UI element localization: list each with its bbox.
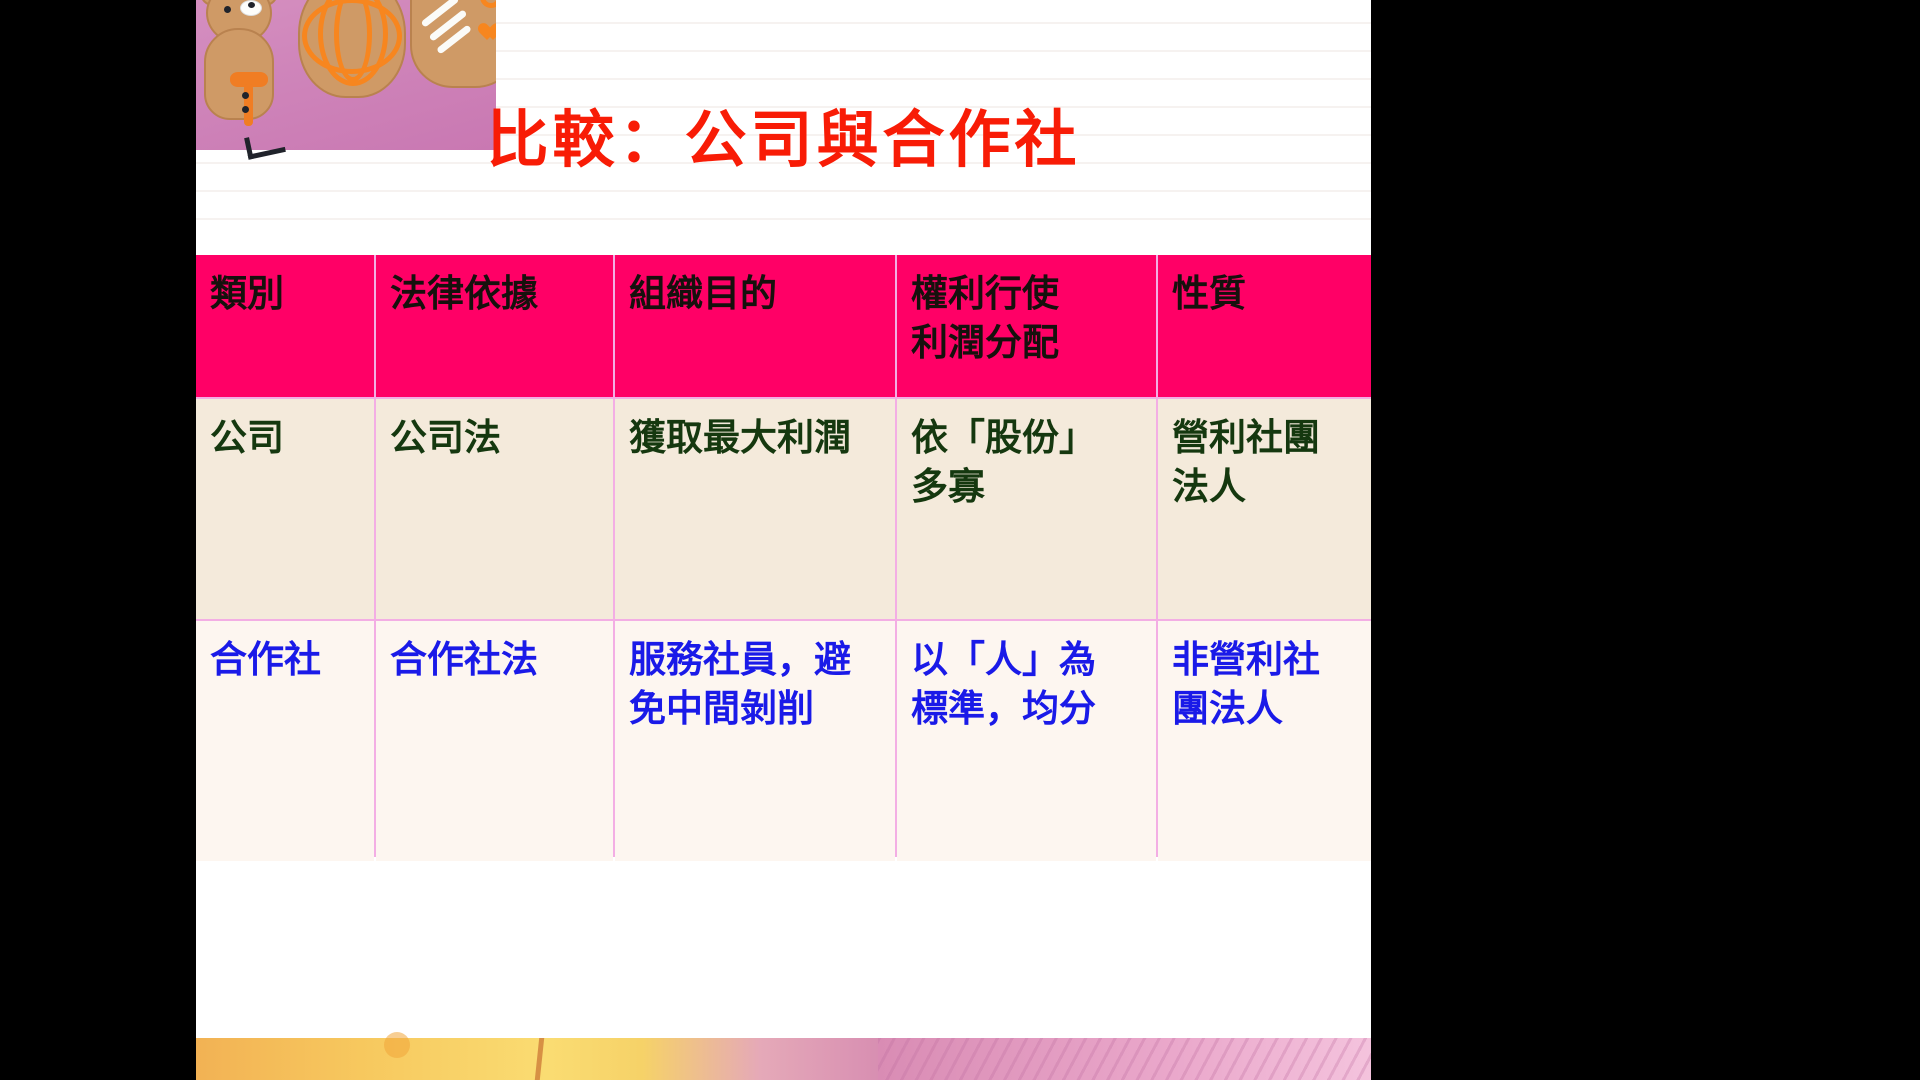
bottom-sun-shape (384, 1032, 410, 1058)
company-nature: 營利社團 法人 (1158, 399, 1371, 619)
comparison-table: 類別 法律依據 組織目的 權利行使 利潤分配 性質 公司 公司法 獲取最大利潤 … (196, 255, 1371, 857)
slide-title: 比較：公司與合作社 (196, 106, 1371, 174)
company-rights-profit: 依「股份」 多寡 (897, 399, 1156, 619)
screen: 比較：公司與合作社 類別 法律依據 組織目的 權利行使 利潤分配 性質 公司 公… (0, 0, 1920, 1080)
cooperative-nature: 非營利社 團法人 (1158, 621, 1371, 861)
cooperative-category: 合作社 (196, 621, 374, 861)
table-header-category: 類別 (196, 255, 374, 397)
table-header-nature: 性質 (1158, 255, 1371, 397)
company-category: 公司 (196, 399, 374, 619)
bottom-decor-strip (196, 1038, 1371, 1080)
cooperative-legal-basis: 合作社法 (376, 621, 613, 861)
company-purpose: 獲取最大利潤 (615, 399, 895, 619)
table-header-rights-profit: 權利行使 利潤分配 (897, 255, 1156, 397)
table-header-purpose: 組織目的 (615, 255, 895, 397)
cat-cookie (410, 0, 496, 88)
company-legal-basis: 公司法 (376, 399, 613, 619)
bottom-stalk-shape (535, 1038, 544, 1080)
pumpkin-cookie (298, 0, 406, 98)
cooperative-rights-profit: 以「人」為 標準，均分 (897, 621, 1156, 861)
bottom-leaf-pattern (878, 1038, 1372, 1080)
cooperative-purpose: 服務社員，避 免中間剝削 (615, 621, 895, 861)
table-header-legal-basis: 法律依據 (376, 255, 613, 397)
slide-canvas: 比較：公司與合作社 類別 法律依據 組織目的 權利行使 利潤分配 性質 公司 公… (196, 0, 1371, 1080)
